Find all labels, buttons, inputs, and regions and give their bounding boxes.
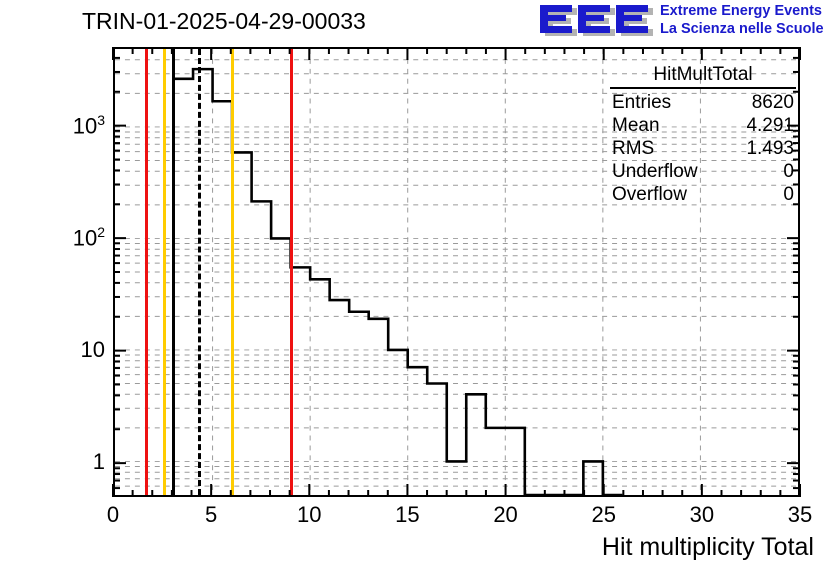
stats-divider — [610, 87, 796, 89]
page-title: TRIN-01-2025-04-29-00033 — [82, 8, 366, 35]
x-tick-label: 35 — [770, 502, 830, 528]
marker-line-black-solid — [172, 49, 175, 495]
stats-value: 0 — [783, 183, 794, 206]
x-tick-label: 25 — [574, 502, 634, 528]
stats-value: 1.493 — [746, 137, 794, 160]
stats-rows: Entries8620Mean4.291RMS1.493Underflow0Ov… — [608, 91, 798, 206]
stats-title: HitMultTotal — [608, 63, 798, 87]
y-tick-label: 10 — [43, 337, 105, 363]
y-tick-label: 1 — [43, 449, 105, 475]
x-axis-title: Hit multiplicity Total — [602, 533, 814, 562]
logo-line-2: La Scienza nelle Scuole — [660, 20, 836, 38]
stats-value: 4.291 — [746, 114, 794, 137]
eee-logo-mark-icon — [536, 4, 656, 40]
marker-line-yellow-left — [163, 49, 166, 495]
marker-line-red-left — [145, 49, 148, 495]
x-tick-label: 30 — [672, 502, 732, 528]
marker-line-red-right — [290, 49, 293, 495]
eee-logo: Extreme Energy Events La Scienza nelle S… — [536, 2, 834, 46]
root-canvas: TRIN-01-2025-04-29-00033 Extreme Energy … — [0, 0, 836, 572]
x-tick-label: 5 — [181, 502, 241, 528]
stats-row: Mean4.291 — [608, 114, 798, 137]
stats-box: HitMultTotal Entries8620Mean4.291RMS1.49… — [608, 63, 798, 206]
y-tick-label: 102 — [43, 224, 105, 251]
stats-key: Overflow — [612, 183, 687, 206]
stats-key: Mean — [612, 114, 660, 137]
x-tick-label: 10 — [279, 502, 339, 528]
x-tick-label: 0 — [83, 502, 143, 528]
stats-row: Underflow0 — [608, 160, 798, 183]
stats-row: Overflow0 — [608, 183, 798, 206]
y-tick-label: 103 — [43, 112, 105, 139]
stats-row: RMS1.493 — [608, 137, 798, 160]
logo-line-1: Extreme Energy Events — [660, 2, 836, 20]
stats-key: RMS — [612, 137, 654, 160]
stats-key: Entries — [612, 91, 671, 114]
marker-line-black-dashed-mean — [198, 49, 201, 495]
marker-line-yellow-right — [231, 49, 234, 495]
stats-value: 0 — [783, 160, 794, 183]
x-tick-label: 20 — [476, 502, 536, 528]
eee-logo-text: Extreme Energy Events La Scienza nelle S… — [660, 2, 836, 38]
stats-value: 8620 — [752, 91, 794, 114]
x-tick-label: 15 — [377, 502, 437, 528]
stats-key: Underflow — [612, 160, 698, 183]
stats-row: Entries8620 — [608, 91, 798, 114]
